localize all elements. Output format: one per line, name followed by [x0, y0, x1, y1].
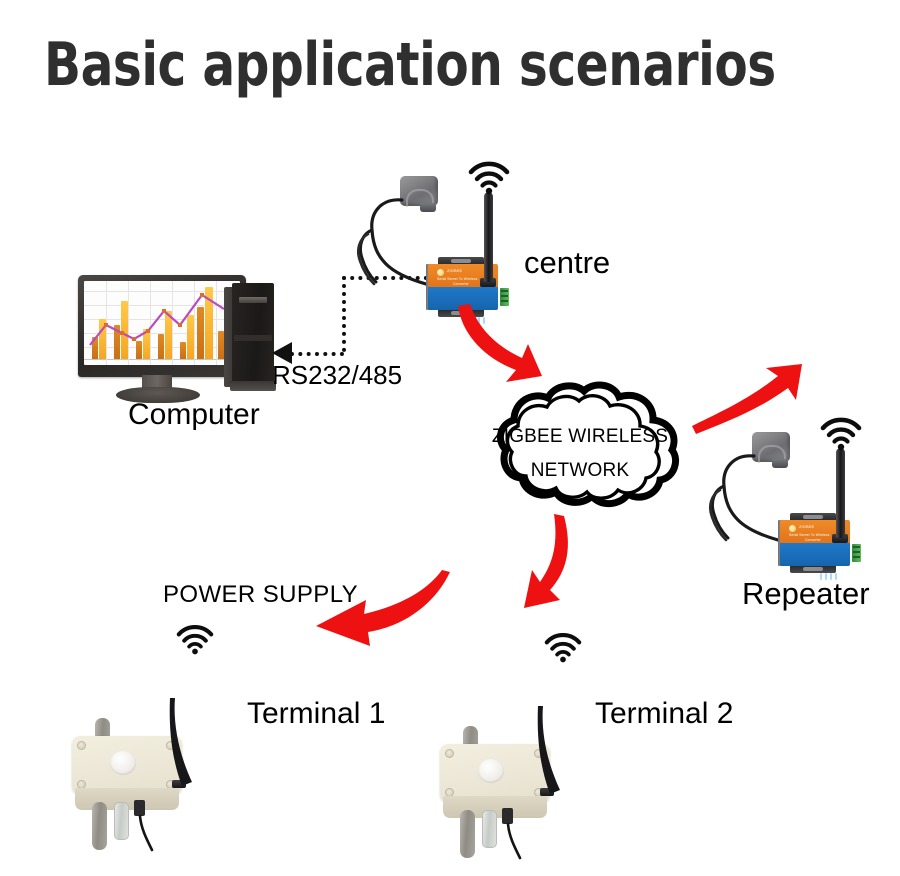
trend-line: [84, 281, 240, 365]
centre-wifi-icon: [467, 156, 511, 196]
terminal1-cable: [132, 800, 162, 854]
terminal1-wifi-icon: [175, 620, 215, 656]
terminal2-probe-clear: [482, 810, 497, 848]
repeater-power-cable: [708, 446, 788, 556]
power-supply-label: POWER SUPPLY: [163, 581, 358, 609]
repeater-label: Repeater: [742, 576, 870, 612]
computer-label: Computer: [128, 398, 260, 432]
repeater-brand-text: ZIGBEE: [799, 525, 814, 529]
page-title: Basic application scenarios: [44, 30, 782, 100]
centre-module-text-2: Converter: [453, 282, 469, 286]
centre-antenna-rod: [484, 192, 493, 282]
desktop-computer-icon: [78, 275, 278, 400]
cloud-text-line2: NETWORK: [470, 454, 690, 488]
cloud-text: ZIGBEE WIRELESS NETWORK: [470, 420, 690, 488]
terminal2-label: Terminal 2: [595, 697, 733, 731]
repeater-wifi-icon: [819, 412, 863, 452]
cloud-text-line1: ZIGBEE WIRELESS: [470, 420, 690, 454]
arrow-cloud-to-repeater: [686, 360, 816, 440]
pc-tower-icon: [224, 283, 274, 391]
terminal2-probe-bottom: [460, 810, 475, 858]
brand-logo-icon: [789, 525, 796, 532]
brand-logo-icon: [437, 269, 444, 276]
terminal1-sensor-dome: [110, 751, 136, 775]
terminal1-antenna-rod: [170, 696, 200, 788]
terminal1-sensor-icon: [72, 718, 202, 853]
repeater-antenna-rod: [836, 448, 845, 538]
monitor-screen: [84, 281, 240, 365]
terminal2-antenna-rod: [538, 704, 568, 796]
terminal2-sensor-dome: [478, 759, 504, 783]
zigbee-cloud: ZIGBEE WIRELESS NETWORK: [470, 382, 690, 512]
terminal1-label: Terminal 1: [247, 697, 385, 731]
monitor-body: [78, 275, 246, 377]
repeater-terminal-block: [852, 544, 861, 562]
serial-link-segment-vertical: [342, 276, 346, 352]
repeater-module-text-1: Serial Server To Wireless: [789, 533, 830, 537]
centre-power-cable: [356, 190, 436, 300]
serial-link-label: RS232/485: [272, 360, 402, 391]
terminal2-wifi-icon: [543, 628, 583, 664]
optical-drive-slot: [239, 297, 267, 303]
centre-brand-text: ZIGBEE: [447, 269, 462, 273]
terminal1-probe-clear: [114, 802, 129, 840]
arrow-cloud-to-terminal2: [502, 512, 612, 632]
terminal2-sensor-icon: [440, 726, 570, 861]
terminal2-cable: [500, 808, 530, 862]
centre-label: centre: [524, 245, 610, 281]
diagram-canvas: Basic application scenarios: [0, 0, 900, 876]
serial-link-segment-bottom: [290, 352, 344, 356]
centre-module-text-1: Serial Server To Wireless: [437, 277, 478, 281]
repeater-module-text-2: Converter: [805, 538, 821, 542]
terminal1-probe-bottom: [92, 802, 107, 850]
